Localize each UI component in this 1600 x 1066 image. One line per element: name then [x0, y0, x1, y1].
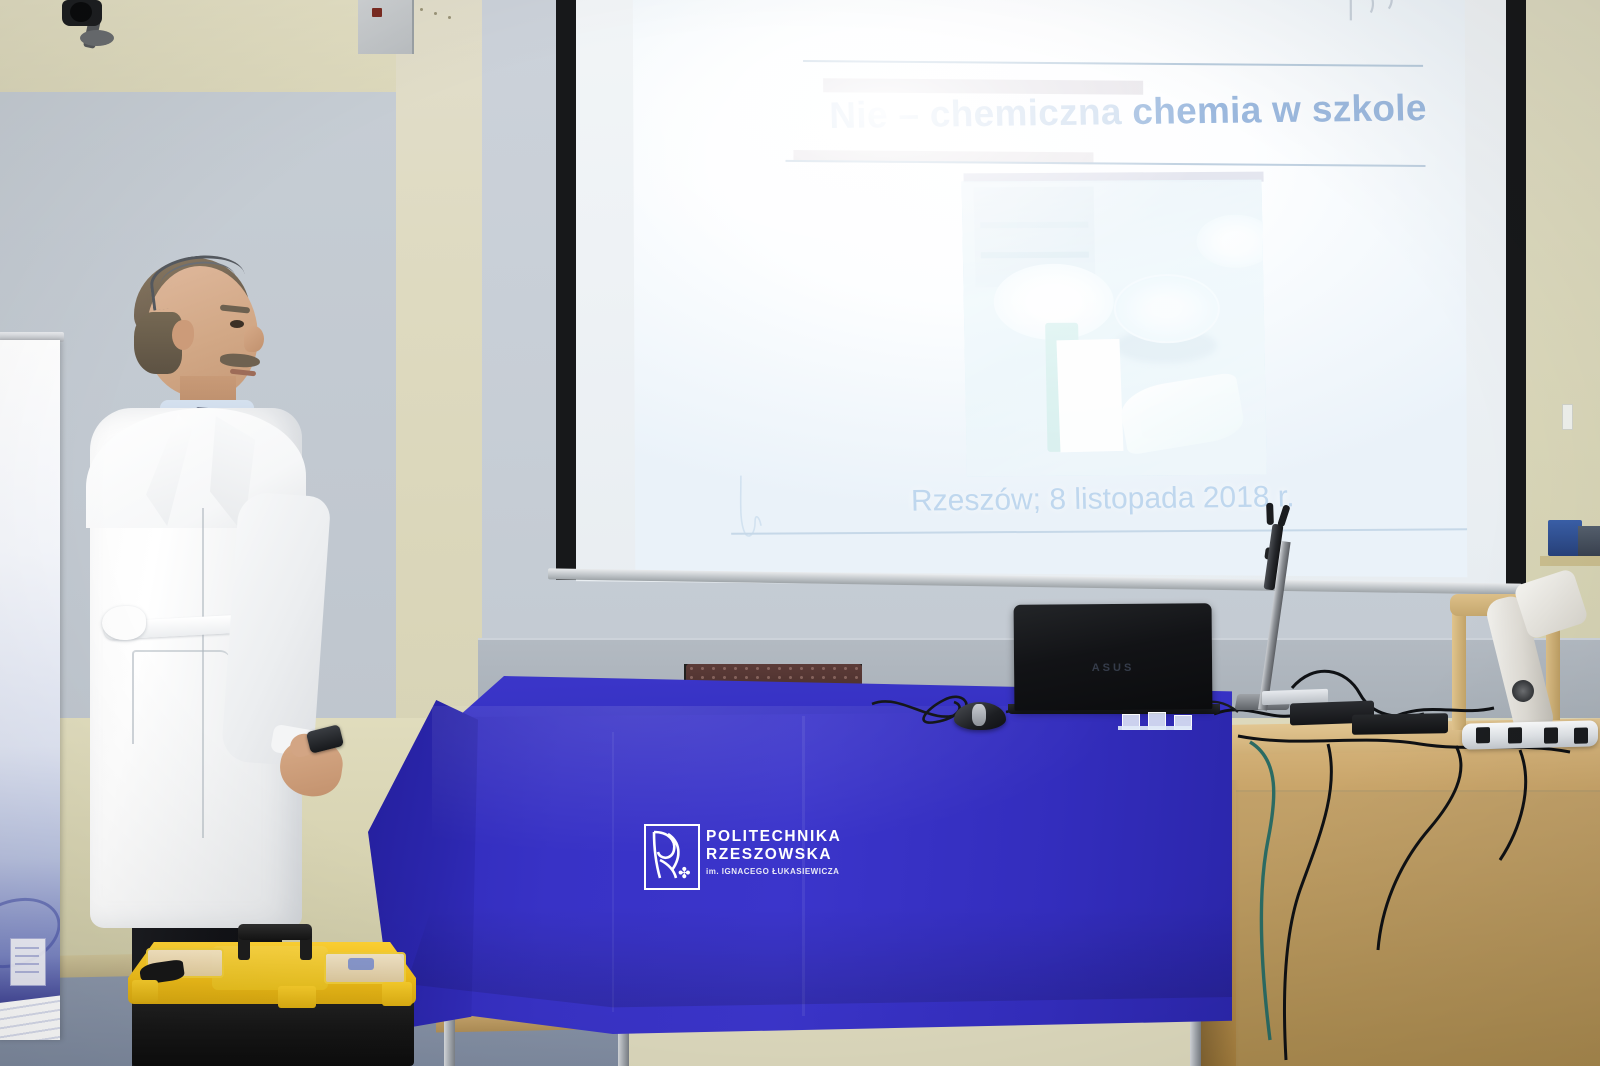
slide-title: Nie – chemiczna chemia w szkole: [829, 87, 1467, 137]
gray-equipment-box: [1578, 526, 1600, 556]
document-camera-lens-icon: [1512, 680, 1534, 702]
tool-case[interactable]: [128, 924, 416, 1066]
slide-rule-footer: [731, 528, 1467, 534]
presenter-ear: [172, 320, 194, 350]
tool-case-latch-left[interactable]: [132, 980, 158, 1002]
projected-slide: Nie – chemiczna chemia w szkole: [633, 0, 1468, 577]
slide-photo: [962, 180, 1267, 477]
stand-clamp-icon: [1264, 502, 1292, 533]
far-shelf: [1540, 556, 1600, 566]
logo-line-3: im. IGNACEGO ŁUKASIEWICZA: [706, 867, 836, 876]
wood-chair-post-left: [1452, 600, 1466, 730]
wall-screw-dots: [420, 6, 460, 20]
screen-right-edge: [1504, 0, 1526, 594]
desk-adapter-2: [1352, 713, 1448, 735]
logo-line-2: RZESZOWSKA: [706, 846, 836, 864]
lecture-hall-scene: Nie – chemiczna chemia w szkole: [0, 0, 1600, 1066]
tool-case-handle[interactable]: [238, 924, 312, 940]
wall-fixture-icon: [1562, 404, 1573, 430]
desk-front-panel: [1236, 790, 1600, 1066]
laptop-brand-logo: ASUS: [1083, 662, 1143, 675]
wall-speaker-icon: [358, 0, 414, 54]
projection-screen: Nie – chemiczna chemia w szkole: [526, 0, 1536, 630]
mouse-scroll-strip[interactable]: [972, 704, 986, 726]
banner-paper-stack-graphic: [0, 995, 60, 1040]
lab-coat-pocket: [132, 650, 230, 744]
blue-tablecloth: ✤ POLITECHNIKA RZESZOWSKA im. IGNACEGO Ł…: [372, 676, 1232, 1066]
tool-case-latch-center[interactable]: [278, 986, 316, 1008]
plastic-card-holders: [1118, 710, 1192, 730]
logo-line-1: POLITECHNIKA: [706, 828, 836, 846]
camera-lens-icon: [70, 2, 92, 22]
slide-date-line: Rzeszów; 8 listopada 2018 r.: [911, 478, 1468, 519]
tool-case-tray-contents: [348, 958, 374, 970]
speaker-led-indicator: [372, 8, 382, 17]
slide-rule-top: [803, 60, 1423, 66]
presenter: [84, 258, 384, 978]
ceiling-camera-mount: [80, 30, 114, 46]
tool-case-latch-right[interactable]: [382, 982, 412, 1006]
power-strip[interactable]: [1462, 720, 1598, 750]
presenter-eye: [230, 320, 244, 328]
screen-left-edge: [556, 0, 578, 580]
presenter-nose: [244, 326, 264, 352]
university-logo: ✤ POLITECHNIKA RZESZOWSKA im. IGNACEGO Ł…: [644, 824, 834, 894]
laptop[interactable]: [1014, 603, 1213, 711]
slide-title-suffix: chemia w szkole: [1132, 87, 1427, 132]
lab-coat-belt-knot: [102, 606, 146, 640]
slide-rule-bottom: [785, 160, 1425, 167]
slide-decorative-logo-icon: [1323, 0, 1443, 29]
logo-star-icon: ✤: [678, 866, 694, 882]
banner-card-graphic: [10, 938, 46, 986]
wall-cream-vertical-strip: [396, 0, 482, 742]
rollup-banner: [0, 340, 60, 1040]
slide-title-prefix: Nie – chemiczna: [829, 91, 1133, 136]
blue-equipment-box: [1548, 520, 1582, 556]
